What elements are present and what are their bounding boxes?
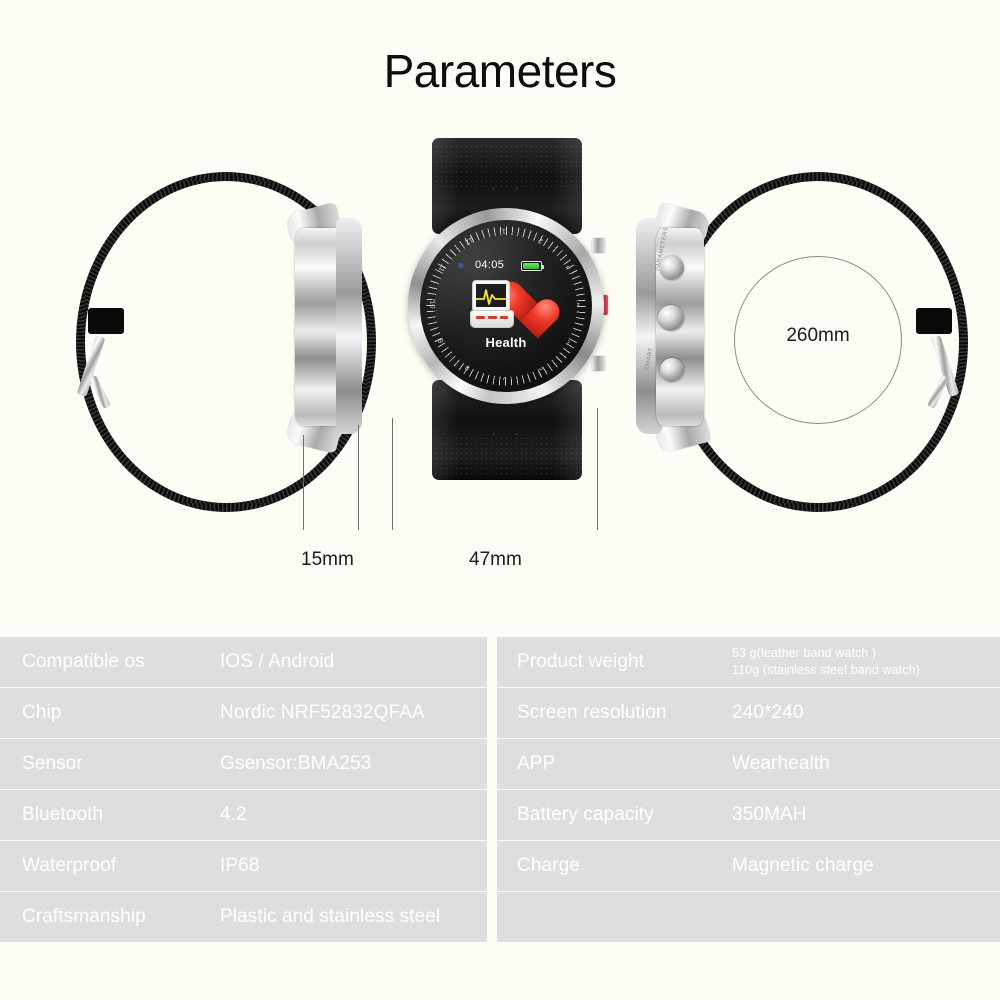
product-image-group: 123456789101112 ✵ 04:05	[0, 130, 1000, 610]
spec-value-line: 110g (stainless steel band watch)	[732, 662, 920, 679]
leader-line-47mm-left	[392, 418, 393, 530]
watch-strap-bottom-texture	[404, 436, 606, 476]
spec-value: 240*240	[732, 702, 804, 724]
leader-line-15mm-left	[303, 435, 304, 530]
spec-value: Nordic NRF52832QFAA	[220, 702, 425, 724]
spec-row: CraftsmanshipPlastic and stainless steel	[0, 892, 487, 942]
ecg-slot-1	[476, 316, 485, 319]
watch-front-view: 123456789101112 ✵ 04:05	[390, 130, 620, 570]
spec-row: APPWearhealth	[497, 739, 1000, 789]
specifications-column-left: Compatible osIOS / AndroidChipNordic NRF…	[0, 637, 487, 940]
spec-row: Product weight53 g(leather band watch )1…	[497, 637, 1000, 687]
battery-icon	[521, 261, 542, 271]
watch-case-rim-left-view	[336, 218, 362, 434]
band-circumference-label: 260mm	[734, 325, 902, 347]
spec-row: SensorGsensor:BMA253	[0, 739, 487, 789]
spec-row: ChipNordic NRF52832QFAA	[0, 688, 487, 738]
screen-time: 04:05	[475, 259, 504, 271]
spec-label: Craftsmanship	[22, 906, 146, 928]
bezel-numeral: 1	[502, 227, 506, 234]
spec-label: Screen resolution	[517, 702, 667, 724]
ecg-waveform	[476, 284, 506, 307]
watch-right-side-view: PARAMETERS SMART 260mm	[628, 150, 978, 530]
watch-left-side-view	[58, 150, 388, 530]
spec-value: Magnetic charge	[732, 855, 874, 877]
spec-label: Charge	[517, 855, 580, 877]
spec-value: 350MAH	[732, 804, 807, 826]
spec-row: Battery capacity350MAH	[497, 790, 1000, 840]
spec-row: Compatible osIOS / Android	[0, 637, 487, 687]
spec-value: IP68	[220, 855, 260, 877]
spec-row: WaterproofIP68	[0, 841, 487, 891]
spec-label: APP	[517, 753, 555, 775]
spec-value: Wearhealth	[732, 753, 830, 775]
spec-label: Chip	[22, 702, 61, 724]
spec-value: Plastic and stainless steel	[220, 906, 440, 928]
watch-pusher-top[interactable]	[660, 256, 684, 280]
dimension-label-47mm: 47mm	[469, 549, 522, 571]
watch-button-bottom[interactable]	[592, 356, 605, 371]
spec-row: ChargeMagnetic charge	[497, 841, 1000, 891]
spec-value: Gsensor:BMA253	[220, 753, 371, 775]
spec-value: IOS / Android	[220, 651, 334, 673]
watch-case-front: 123456789101112 ✵ 04:05	[408, 208, 604, 404]
ecg-slot-3	[500, 316, 508, 319]
spec-value-line: 53 g(leather band watch )	[732, 645, 920, 662]
spec-label: Product weight	[517, 651, 644, 673]
watch-strap-top-texture	[404, 144, 606, 190]
ecg-monitor-body	[473, 281, 509, 311]
ecg-slot-2	[488, 316, 497, 319]
band-keeper-right	[916, 308, 952, 334]
watch-screen[interactable]: ✵ 04:05	[435, 235, 577, 377]
spec-label: Compatible os	[22, 651, 145, 673]
spec-label: Waterproof	[22, 855, 116, 877]
spec-row: Bluetooth4.2	[0, 790, 487, 840]
page-title: Parameters	[0, 44, 1000, 98]
screen-app-label: Health	[435, 335, 577, 350]
specifications-column-right: Product weight53 g(leather band watch )1…	[497, 637, 1000, 940]
watch-pusher-bottom[interactable]	[660, 358, 684, 382]
bluetooth-icon: ✵	[457, 262, 462, 270]
leader-line-15mm-right	[358, 425, 359, 530]
leader-line-47mm-right	[597, 408, 598, 530]
dimension-label-15mm: 15mm	[301, 549, 354, 571]
ecg-monitor-icon	[471, 281, 515, 329]
spec-row: Screen resolution240*240	[497, 688, 1000, 738]
spec-row	[497, 892, 1000, 942]
spec-value: 53 g(leather band watch )110g (stainless…	[732, 645, 920, 680]
watch-button-top[interactable]	[592, 238, 605, 253]
spec-label: Sensor	[22, 753, 83, 775]
spec-label: Bluetooth	[22, 804, 103, 826]
band-keeper-left	[88, 308, 124, 334]
watch-pusher-middle[interactable]	[658, 305, 684, 331]
spec-value: 4.2	[220, 804, 247, 826]
ecg-monitor-base	[471, 311, 513, 327]
specifications-table: Compatible osIOS / AndroidChipNordic NRF…	[0, 637, 1000, 940]
spec-label: Battery capacity	[517, 804, 654, 826]
